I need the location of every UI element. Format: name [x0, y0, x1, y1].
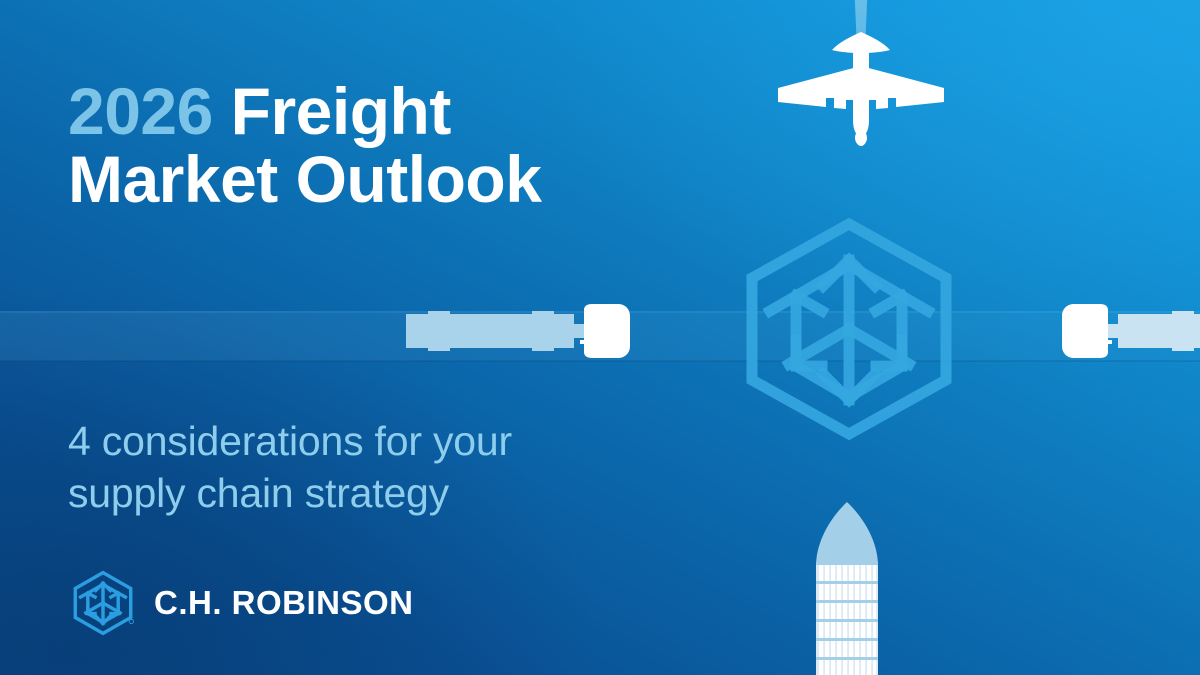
airplane-icon: [766, 0, 956, 150]
truck-right-icon: [1058, 300, 1200, 362]
hero-subtitle: 4 considerations for your supply chain s…: [68, 415, 668, 520]
subtitle-line-2: supply chain strategy: [68, 470, 449, 516]
brand-logo: C.H. ROBINSON: [70, 570, 414, 636]
page-title: 2026 Freight Market Outlook: [68, 78, 708, 214]
hexagon-cube-watermark-icon: [736, 216, 962, 442]
hero-copy: 2026 Freight Market Outlook: [68, 78, 708, 214]
container-ship-icon: [812, 500, 882, 675]
truck-left-icon: [404, 300, 634, 362]
brand-name: C.H. ROBINSON: [154, 584, 414, 622]
ch-robinson-hexagon-cube-icon: [70, 570, 136, 636]
title-line2: Market Outlook: [68, 142, 541, 216]
subtitle-line-1: 4 considerations for your: [68, 418, 512, 464]
title-year: 2026: [68, 74, 213, 148]
freight-market-outlook-graphic: 2026 Freight Market Outlook 4 considerat…: [0, 0, 1200, 675]
title-main: Freight: [231, 74, 451, 148]
